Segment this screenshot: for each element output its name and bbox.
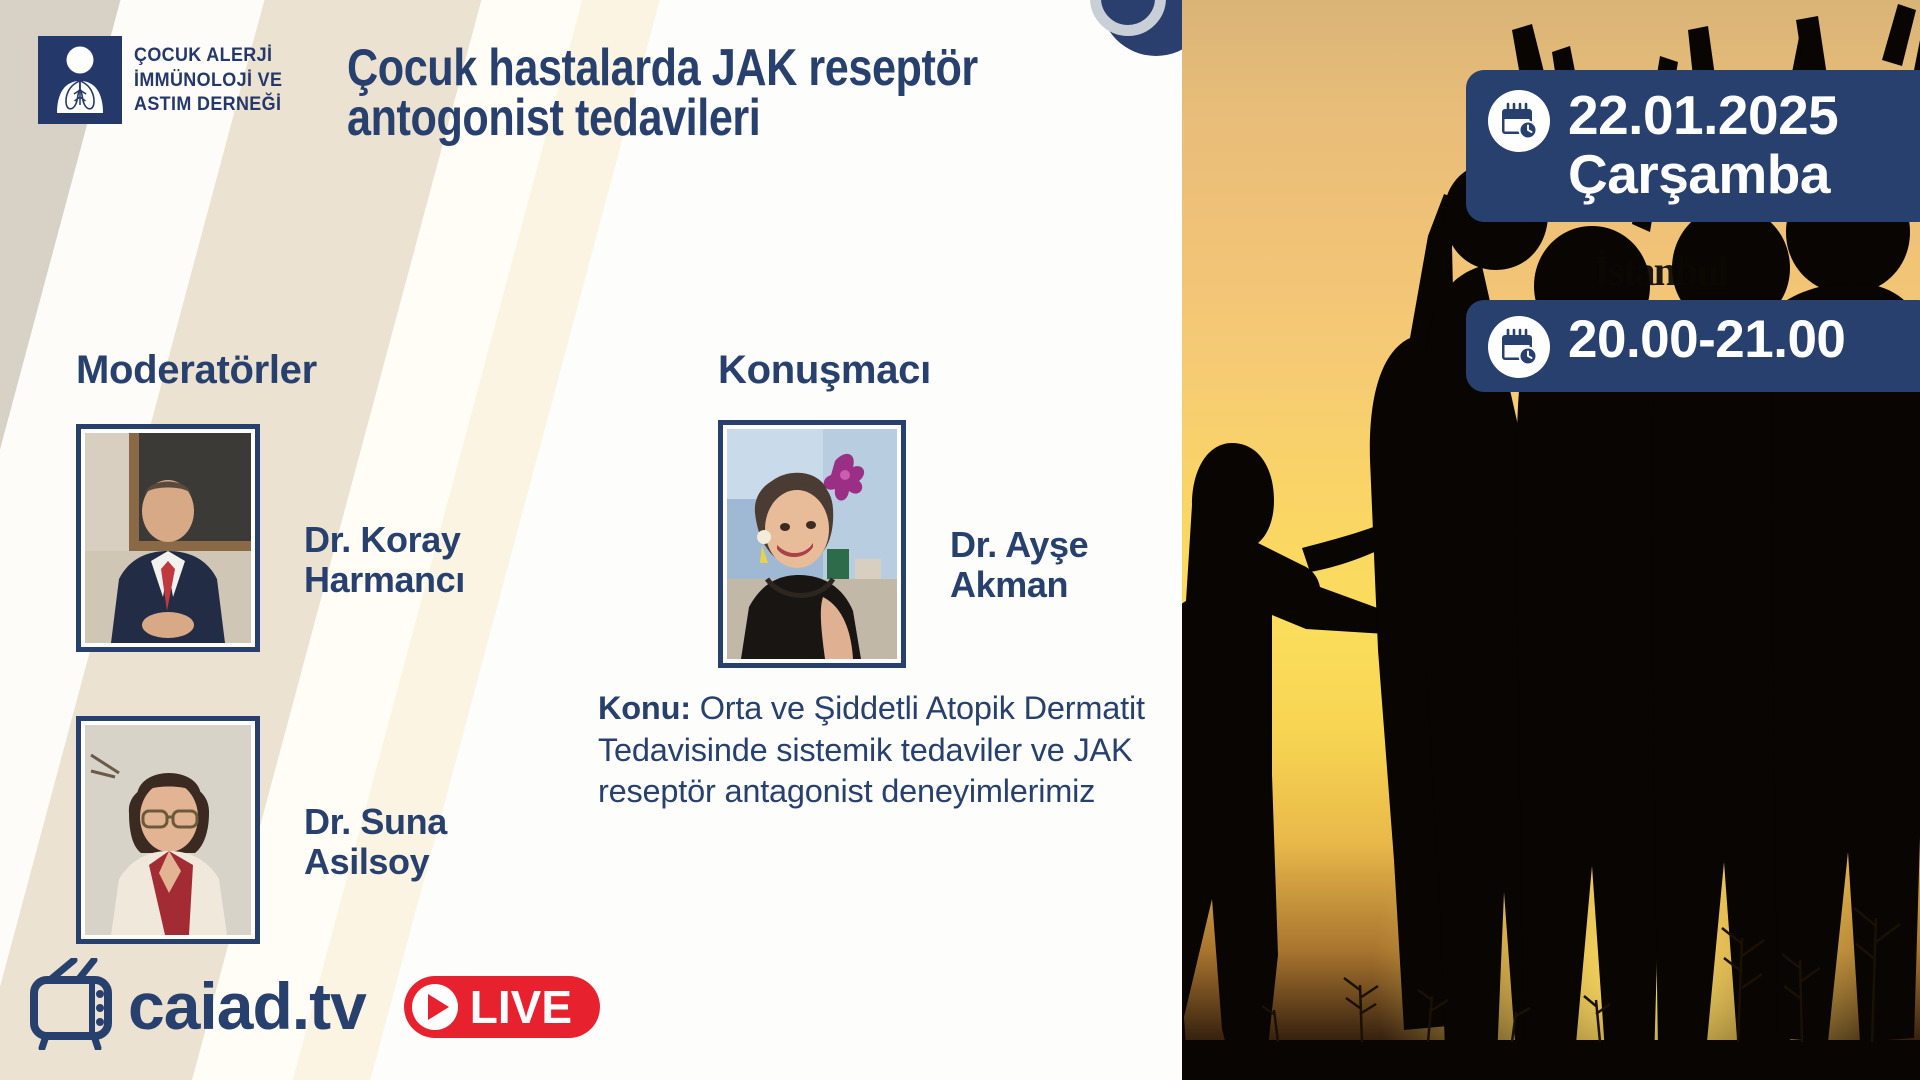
moderators-heading: Moderatörler <box>76 348 317 393</box>
portrait-suna-asilsoy <box>85 725 251 935</box>
moderator-name: Dr. Koray Harmancı <box>304 520 465 601</box>
event-date-badge: 22.01.2025 Çarşamba <box>1466 70 1920 222</box>
background-text-artifact: İstanbul <box>1594 248 1727 296</box>
topic-text: Konu: Orta ve Şiddetli Atopik Dermatit T… <box>598 688 1198 813</box>
moderator-name: Dr. Suna Asilsoy <box>304 802 447 883</box>
speaker-card: Dr. Ayşe Akman <box>718 420 1088 668</box>
moderator-card: Dr. Suna Asilsoy <box>76 716 447 944</box>
event-date-text: 22.01.2025 Çarşamba <box>1568 86 1838 204</box>
avatar <box>76 716 260 944</box>
avatar <box>76 424 260 652</box>
avatar <box>718 420 906 668</box>
speaker-name: Dr. Ayşe Akman <box>950 525 1088 606</box>
portrait-koray-harmanci <box>85 433 251 643</box>
status-badge[interactable]: LIVE <box>404 976 600 1038</box>
brand-name[interactable]: caiad.tv <box>128 968 366 1044</box>
brand-bar: caiad.tv LIVE <box>28 958 600 1050</box>
play-circle-icon <box>412 984 458 1030</box>
moderator-card: Dr. Koray Harmancı <box>76 424 465 652</box>
person-lungs-icon <box>38 36 122 124</box>
event-time-badge: 20.00-21.00 <box>1466 300 1920 392</box>
speaker-heading: Konuşmacı <box>718 348 931 393</box>
calendar-clock-icon <box>1488 90 1550 152</box>
event-time-text: 20.00-21.00 <box>1568 312 1845 369</box>
webinar-poster: ÇOCUK ALERJİ İMMÜNOLOJİ VE ASTIM DERNEĞİ… <box>0 0 1920 1080</box>
association-logo: ÇOCUK ALERJİ İMMÜNOLOJİ VE ASTIM DERNEĞİ <box>38 36 295 124</box>
page-title: Çocuk hastalarda JAK reseptör antogonist… <box>347 44 1019 144</box>
calendar-clock-icon <box>1488 316 1550 378</box>
live-label: LIVE <box>470 980 572 1034</box>
topic-label: Konu: <box>598 690 691 726</box>
association-name: ÇOCUK ALERJİ İMMÜNOLOJİ VE ASTIM DERNEĞİ <box>134 43 282 117</box>
portrait-ayse-akman <box>727 429 897 659</box>
retro-tv-icon <box>28 958 132 1050</box>
